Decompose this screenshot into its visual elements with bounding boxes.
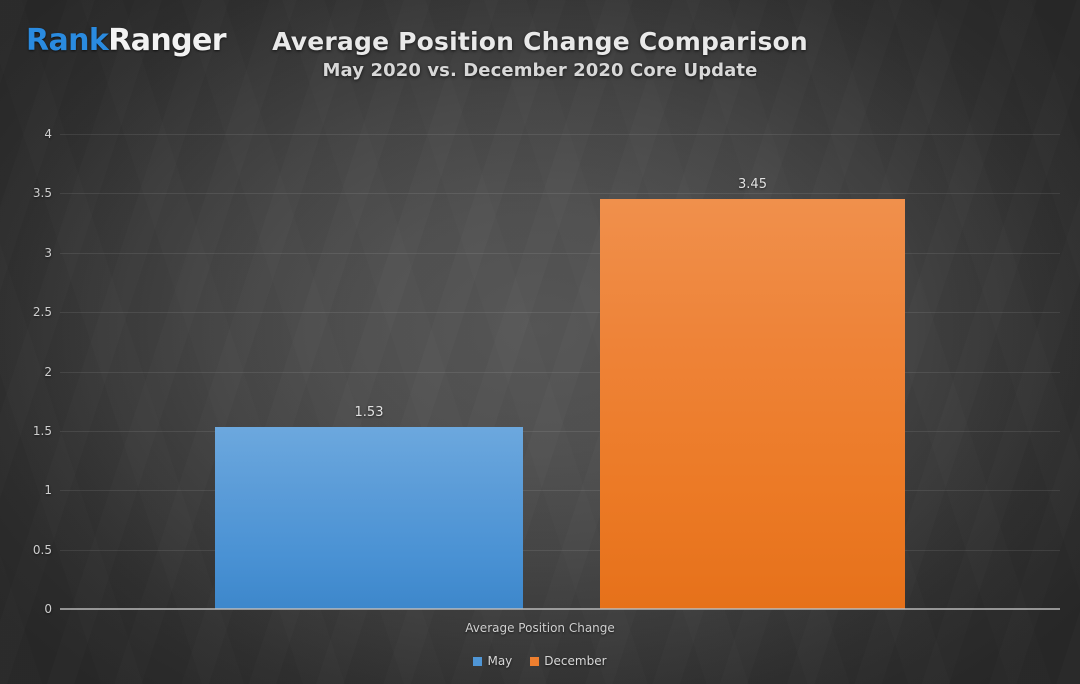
y-axis-tick-label: 2 <box>0 366 52 378</box>
gridline <box>60 431 1060 432</box>
y-axis-tick-label: 2.5 <box>0 306 52 318</box>
gridline <box>60 253 1060 254</box>
legend-label: December <box>544 655 606 667</box>
y-axis-tick-label: 3 <box>0 247 52 259</box>
chart-subtitle: May 2020 vs. December 2020 Core Update <box>0 60 1080 83</box>
x-axis-line <box>60 608 1060 610</box>
bar-december[interactable] <box>600 199 905 609</box>
bar-value-label-december: 3.45 <box>600 178 905 191</box>
legend-swatch-icon <box>530 657 539 666</box>
y-axis-tick-label: 0.5 <box>0 544 52 556</box>
gridline <box>60 550 1060 551</box>
bar-value-label-may: 1.53 <box>215 406 523 419</box>
gridline <box>60 312 1060 313</box>
gridline <box>60 193 1060 194</box>
gridline <box>60 372 1060 373</box>
y-axis-tick-labels: 00.511.522.533.54 <box>0 0 52 684</box>
gridline <box>60 134 1060 135</box>
y-axis-tick-label: 1 <box>0 484 52 496</box>
x-axis-category-label: Average Position Change <box>0 621 1080 635</box>
chart-canvas: RankRanger Average Position Change Compa… <box>0 0 1080 684</box>
chart-legend: MayDecember <box>0 655 1080 667</box>
rankranger-logo: RankRanger <box>26 26 226 56</box>
y-axis-tick-label: 0 <box>0 603 52 615</box>
legend-label: May <box>487 655 512 667</box>
y-axis-tick-label: 1.5 <box>0 425 52 437</box>
y-axis-tick-label: 3.5 <box>0 187 52 199</box>
logo-text-ranger: Ranger <box>108 23 226 58</box>
logo-text-rank: Rank <box>26 23 108 58</box>
gridline <box>60 490 1060 491</box>
plot-area: 1.533.45 <box>60 134 1060 609</box>
y-axis-tick-label: 4 <box>0 128 52 140</box>
legend-item-may[interactable]: May <box>473 655 512 667</box>
bar-may[interactable] <box>215 427 523 609</box>
legend-swatch-icon <box>473 657 482 666</box>
legend-item-december[interactable]: December <box>530 655 606 667</box>
